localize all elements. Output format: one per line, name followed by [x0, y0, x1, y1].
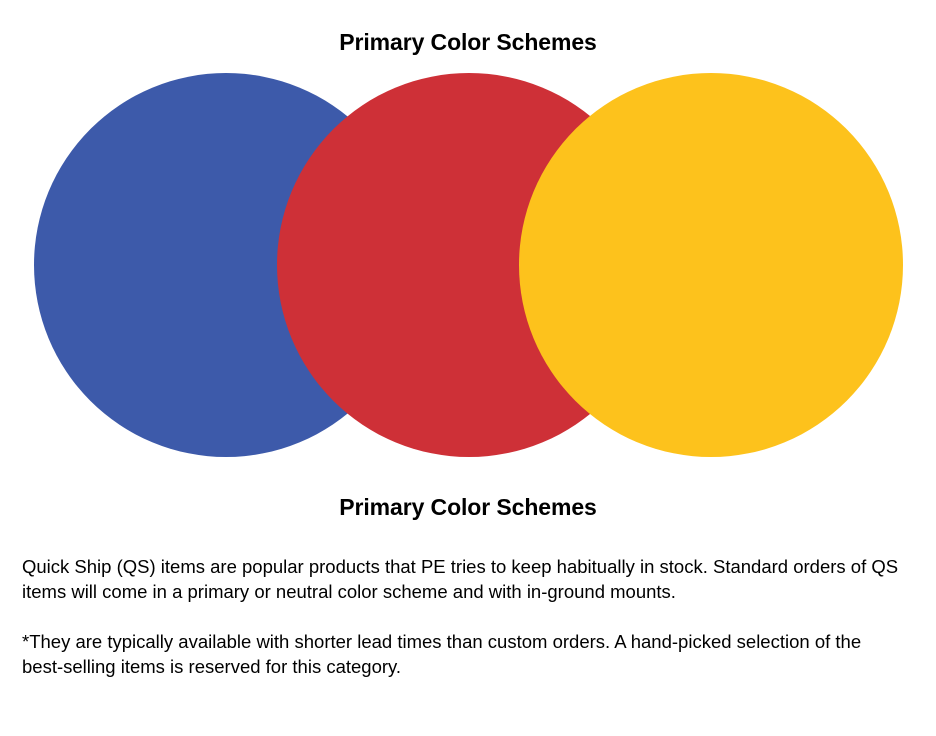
- paragraph-quick-ship-description: Quick Ship (QS) items are popular produc…: [22, 554, 902, 604]
- paragraph-lead-time-footnote: *They are typically available with short…: [22, 629, 902, 679]
- yellow-circle: [519, 73, 903, 457]
- body-copy: Quick Ship (QS) items are popular produc…: [22, 554, 902, 679]
- venn-diagram: [0, 0, 936, 480]
- slide-canvas: Primary Color Schemes Primary Color Sche…: [0, 0, 936, 736]
- diagram-caption-title: Primary Color Schemes: [0, 493, 936, 521]
